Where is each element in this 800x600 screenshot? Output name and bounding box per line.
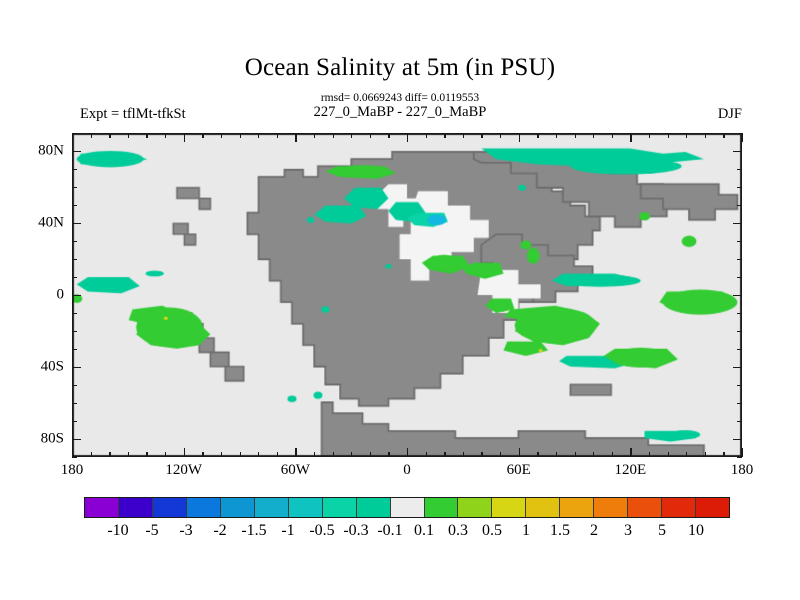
x-tick-bottom — [742, 448, 743, 457]
x-tick-bottom — [723, 452, 724, 457]
x-tick-bottom — [277, 452, 278, 457]
colorbar-tick-label: 0.5 — [482, 522, 502, 540]
colorbar-cell-16 — [628, 498, 662, 517]
x-tick-top — [481, 133, 482, 138]
colorbar-cell-10 — [425, 498, 459, 517]
x-tick-top — [630, 133, 631, 142]
x-tick-top — [575, 133, 576, 138]
x-tick-top — [277, 133, 278, 138]
y-tick-left — [72, 133, 77, 134]
x-tick-top — [370, 133, 371, 138]
colorbar-cell-14 — [560, 498, 594, 517]
x-axis-label: 120W — [165, 462, 202, 479]
y-tick-left — [72, 403, 77, 404]
x-tick-top — [686, 133, 687, 138]
x-tick-top — [258, 133, 259, 138]
colorbar-cell-11 — [458, 498, 492, 517]
x-tick-bottom — [258, 452, 259, 457]
x-tick-bottom — [686, 452, 687, 457]
y-tick-left — [72, 187, 77, 188]
y-axis-label: 0 — [57, 287, 65, 304]
x-tick-bottom — [165, 452, 166, 457]
x-tick-bottom — [184, 448, 185, 457]
colorbar-tick-label: -1.5 — [241, 522, 266, 540]
x-tick-bottom — [463, 452, 464, 457]
x-tick-bottom — [649, 452, 650, 457]
colorbar-cell-3 — [187, 498, 221, 517]
x-tick-top — [407, 133, 408, 142]
x-tick-bottom — [519, 448, 520, 457]
y-tick-left — [72, 241, 77, 242]
x-axis-label: 180 — [731, 462, 754, 479]
x-tick-top — [388, 133, 389, 138]
salinity-anomaly-map — [73, 134, 741, 456]
y-tick-left — [72, 277, 77, 278]
colorbar-cell-1 — [119, 498, 153, 517]
y-tick-right — [737, 313, 742, 314]
x-tick-top — [537, 133, 538, 138]
x-tick-top — [649, 133, 650, 138]
x-tick-bottom — [705, 452, 706, 457]
x-tick-bottom — [91, 452, 92, 457]
y-tick-right — [733, 223, 742, 224]
y-tick-right — [737, 457, 742, 458]
x-tick-bottom — [128, 452, 129, 457]
y-tick-right — [733, 367, 742, 368]
colorbar-tick-label: -1 — [281, 522, 294, 540]
y-tick-right — [733, 295, 742, 296]
x-tick-bottom — [612, 452, 613, 457]
colorbar-tick-label: -0.1 — [377, 522, 402, 540]
x-tick-bottom — [202, 452, 203, 457]
colorbar-tick-label: 0.1 — [414, 522, 434, 540]
experiment-label: Expt = tflMt-tfkSt — [80, 106, 186, 123]
colorbar-cell-4 — [221, 498, 255, 517]
x-tick-bottom — [370, 452, 371, 457]
x-tick-bottom — [556, 452, 557, 457]
colorbar-cell-18 — [696, 498, 729, 517]
x-tick-top — [723, 133, 724, 138]
figure-root: Ocean Salinity at 5m (in PSU) rmsd= 0.06… — [0, 0, 800, 600]
x-tick-bottom — [668, 452, 669, 457]
x-tick-top — [556, 133, 557, 138]
x-tick-top — [593, 133, 594, 138]
colorbar-cell-2 — [153, 498, 187, 517]
x-tick-top — [444, 133, 445, 138]
x-tick-bottom — [109, 452, 110, 457]
x-tick-bottom — [537, 452, 538, 457]
colorbar — [84, 497, 730, 518]
y-tick-left — [72, 367, 81, 368]
y-axis-label: 40S — [41, 358, 64, 375]
y-tick-left — [72, 349, 77, 350]
x-tick-top — [426, 133, 427, 138]
x-axis-label: 60E — [507, 462, 531, 479]
x-tick-bottom — [295, 448, 296, 457]
colorbar-tick-label: 2 — [590, 522, 598, 540]
y-tick-right — [737, 187, 742, 188]
colorbar-tick-label: -3 — [179, 522, 192, 540]
y-tick-right — [737, 277, 742, 278]
y-tick-left — [72, 313, 77, 314]
x-axis-label: 0 — [403, 462, 411, 479]
x-tick-bottom — [575, 452, 576, 457]
x-tick-top — [109, 133, 110, 138]
x-tick-bottom — [407, 448, 408, 457]
y-tick-left — [72, 439, 81, 440]
x-tick-top — [295, 133, 296, 142]
colorbar-cell-17 — [662, 498, 696, 517]
y-tick-right — [737, 349, 742, 350]
x-tick-bottom — [240, 452, 241, 457]
page-title: Ocean Salinity at 5m (in PSU) — [0, 54, 800, 82]
y-axis-label: 80S — [41, 430, 64, 447]
x-axis-label: 60W — [281, 462, 310, 479]
x-tick-bottom — [388, 452, 389, 457]
colorbar-tick-label: -10 — [107, 522, 128, 540]
x-tick-bottom — [314, 452, 315, 457]
x-tick-top — [519, 133, 520, 142]
x-tick-bottom — [72, 448, 73, 457]
y-axis-label: 40N — [38, 215, 64, 232]
x-tick-bottom — [221, 452, 222, 457]
x-tick-bottom — [593, 452, 594, 457]
x-tick-bottom — [426, 452, 427, 457]
x-tick-bottom — [146, 452, 147, 457]
x-axis-label: 120E — [614, 462, 646, 479]
y-tick-left — [72, 295, 81, 296]
colorbar-cell-12 — [492, 498, 526, 517]
x-tick-bottom — [444, 452, 445, 457]
colorbar-cell-13 — [526, 498, 560, 517]
colorbar-cell-0 — [85, 498, 119, 517]
x-tick-top — [202, 133, 203, 138]
colorbar-cell-15 — [594, 498, 628, 517]
x-tick-top — [240, 133, 241, 138]
season-label: DJF — [718, 106, 742, 123]
x-tick-bottom — [630, 448, 631, 457]
y-tick-left — [72, 151, 81, 152]
x-tick-top — [146, 133, 147, 138]
colorbar-cell-6 — [289, 498, 323, 517]
stats-annotation: rmsd= 0.0669243 diff= 0.0119553 — [0, 92, 800, 104]
y-tick-right — [737, 385, 742, 386]
y-tick-left — [72, 259, 77, 260]
colorbar-cells — [84, 497, 730, 518]
colorbar-tick-label: 5 — [658, 522, 666, 540]
y-tick-left — [72, 169, 77, 170]
colorbar-tick-label: -5 — [145, 522, 158, 540]
colorbar-tick-label: 0.3 — [448, 522, 468, 540]
x-tick-top — [463, 133, 464, 138]
x-tick-top — [72, 133, 73, 142]
x-axis-label: 180 — [61, 462, 84, 479]
x-tick-top — [221, 133, 222, 138]
x-tick-top — [314, 133, 315, 138]
colorbar-cell-5 — [255, 498, 289, 517]
y-tick-right — [737, 205, 742, 206]
y-tick-left — [72, 223, 81, 224]
x-tick-top — [165, 133, 166, 138]
y-tick-right — [733, 151, 742, 152]
colorbar-tick-label: -0.3 — [343, 522, 368, 540]
x-tick-bottom — [481, 452, 482, 457]
x-tick-top — [500, 133, 501, 138]
colorbar-cell-7 — [323, 498, 357, 517]
y-tick-right — [737, 133, 742, 134]
x-tick-top — [91, 133, 92, 138]
y-tick-right — [733, 439, 742, 440]
x-tick-top — [668, 133, 669, 138]
y-tick-right — [737, 241, 742, 242]
colorbar-tick-label: 10 — [688, 522, 704, 540]
colorbar-tick-label: -0.5 — [309, 522, 334, 540]
x-tick-bottom — [333, 452, 334, 457]
colorbar-tick-label: -2 — [213, 522, 226, 540]
y-tick-right — [737, 259, 742, 260]
y-tick-right — [737, 169, 742, 170]
y-tick-right — [737, 331, 742, 332]
x-tick-top — [705, 133, 706, 138]
colorbar-tick-label: 3 — [624, 522, 632, 540]
y-tick-left — [72, 385, 77, 386]
x-tick-top — [333, 133, 334, 138]
x-tick-bottom — [500, 452, 501, 457]
x-tick-top — [351, 133, 352, 138]
x-tick-bottom — [351, 452, 352, 457]
colorbar-tick-label: 1 — [522, 522, 530, 540]
x-tick-top — [612, 133, 613, 138]
y-tick-right — [737, 403, 742, 404]
colorbar-cell-8 — [357, 498, 391, 517]
colorbar-cell-9 — [391, 498, 425, 517]
y-tick-left — [72, 205, 77, 206]
colorbar-tick-label: 1.5 — [550, 522, 570, 540]
y-tick-left — [72, 421, 77, 422]
y-axis-label: 80N — [38, 143, 64, 160]
map-plot-area — [72, 133, 742, 457]
y-tick-right — [737, 421, 742, 422]
x-tick-top — [742, 133, 743, 142]
x-tick-top — [128, 133, 129, 138]
x-tick-top — [184, 133, 185, 142]
y-tick-left — [72, 457, 77, 458]
y-tick-left — [72, 331, 77, 332]
